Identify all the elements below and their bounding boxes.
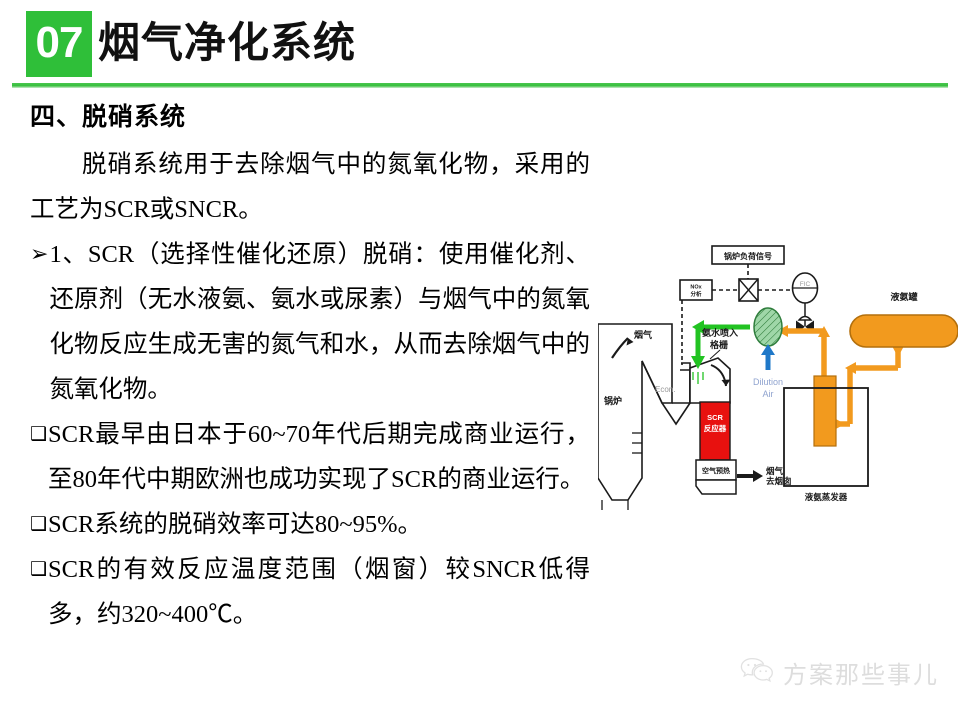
boiler-tube-ticks <box>602 433 642 510</box>
label-economizer: Econ. <box>655 385 675 394</box>
label-ammonia-injection-grid-line2: 格栅 <box>710 339 728 350</box>
evaporator-coil <box>814 376 836 446</box>
label-flue-gas-to-stack-line2: 去烟囱 <box>766 476 792 486</box>
label-scr-reactor-line1: SCR <box>707 413 723 422</box>
arrow-bullet-icon: ➢ <box>30 232 49 277</box>
label-nox-analyzer-line2: 分析 <box>690 290 702 298</box>
watermark: 方案那些事儿 <box>740 655 939 690</box>
label-nox-analyzer-line1: NOx <box>690 285 702 291</box>
bullet-item-4: ❑ SCR的有效反应温度范围（烟窗）较SNCR低得多，约320~400℃。 <box>30 547 590 637</box>
ammonia-air-mixer <box>754 308 782 346</box>
page-title: 烟气净化系统 <box>98 13 356 73</box>
bullet-item-3: ❑ SCR系统的脱硝效率可达80~95%。 <box>30 502 590 547</box>
label-fic: FIC <box>800 281 811 288</box>
label-air-preheater: 空气预热 <box>702 466 730 475</box>
header-divider <box>12 83 948 88</box>
air-preheater: 空气预热 <box>696 460 736 494</box>
label-liquid-ammonia-tank: 液氨罐 <box>890 291 917 302</box>
content-column: 四、脱硝系统 脱硝系统用于去除烟气中的氮氧化物，采用的工艺为SCR或SNCR。 … <box>30 100 590 637</box>
liquid-ammonia-tank: 液氨罐 <box>850 291 958 347</box>
square-bullet-icon: ❑ <box>30 547 48 592</box>
label-flue-gas: 烟气 <box>634 329 652 340</box>
square-bullet-icon: ❑ <box>30 502 48 547</box>
section-heading: 四、脱硝系统 <box>30 100 590 134</box>
label-flue-gas-to-stack-line1: 烟气 <box>766 466 784 476</box>
boiler-load-signal-box: 锅炉负荷信号 <box>712 246 784 264</box>
label-boiler-load-signal: 锅炉负荷信号 <box>723 251 772 261</box>
bullet-item-2: ❑ SCR最早由日本于60~70年代后期完成商业运行，至80年代中期欧洲也成功实… <box>30 412 590 502</box>
signal-summer-block <box>739 279 758 301</box>
square-bullet-icon: ❑ <box>30 412 48 457</box>
slide-header: 07 烟气净化系统 <box>0 0 960 92</box>
nox-analyzer-box: NOx 分析 <box>680 280 712 300</box>
fic-controller: FIC <box>793 273 818 303</box>
lead-paragraph: 脱硝系统用于去除烟气中的氮氧化物，采用的工艺为SCR或SNCR。 <box>30 142 590 232</box>
dilution-air-arrow-icon <box>761 344 775 370</box>
bullet-item-3-text: SCR系统的脱硝效率可达80~95%。 <box>48 502 590 547</box>
section-number-badge: 07 <box>26 11 92 77</box>
bullet-item-4-text: SCR的有效反应温度范围（烟窗）较SNCR低得多，约320~400℃。 <box>48 547 590 637</box>
bullet-item-2-text: SCR最早由日本于60~70年代后期完成商业运行，至80年代中期欧洲也成功实现了… <box>48 412 590 502</box>
flue-gas-to-stack-arrow-icon <box>737 470 763 482</box>
label-scr-reactor-line2: 反应器 <box>704 423 727 433</box>
boiler-outline <box>598 324 690 500</box>
label-dilution-air-line2: Air <box>763 389 774 399</box>
watermark-text: 方案那些事儿 <box>783 655 939 690</box>
label-ammonia-injection-grid-line1: 氨水喷入 <box>702 327 738 338</box>
wechat-logo-icon <box>740 657 774 688</box>
bullet-item-1: ➢ 1、SCR（选择性催化还原）脱硝：使用催化剂、还原剂（无水液氨、氨水或尿素）… <box>30 232 590 412</box>
label-dilution-air-line1: Dilution <box>753 377 783 387</box>
scr-process-diagram: 烟气 锅炉 Econ. SCR 反应器 空气预热 烟气 去烟囱 锅炉负荷信号 N… <box>598 228 958 528</box>
bullet-item-1-text: 1、SCR（选择性催化还原）脱硝：使用催化剂、还原剂（无水液氨、氨水或尿素）与烟… <box>49 232 590 412</box>
label-boiler: 锅炉 <box>603 395 622 406</box>
label-liquid-ammonia-evaporator: 液氨蒸发器 <box>805 492 848 502</box>
scr-reactor-vessel: SCR 反应器 <box>690 358 730 460</box>
flue-gas-arrow-icon <box>612 338 634 358</box>
